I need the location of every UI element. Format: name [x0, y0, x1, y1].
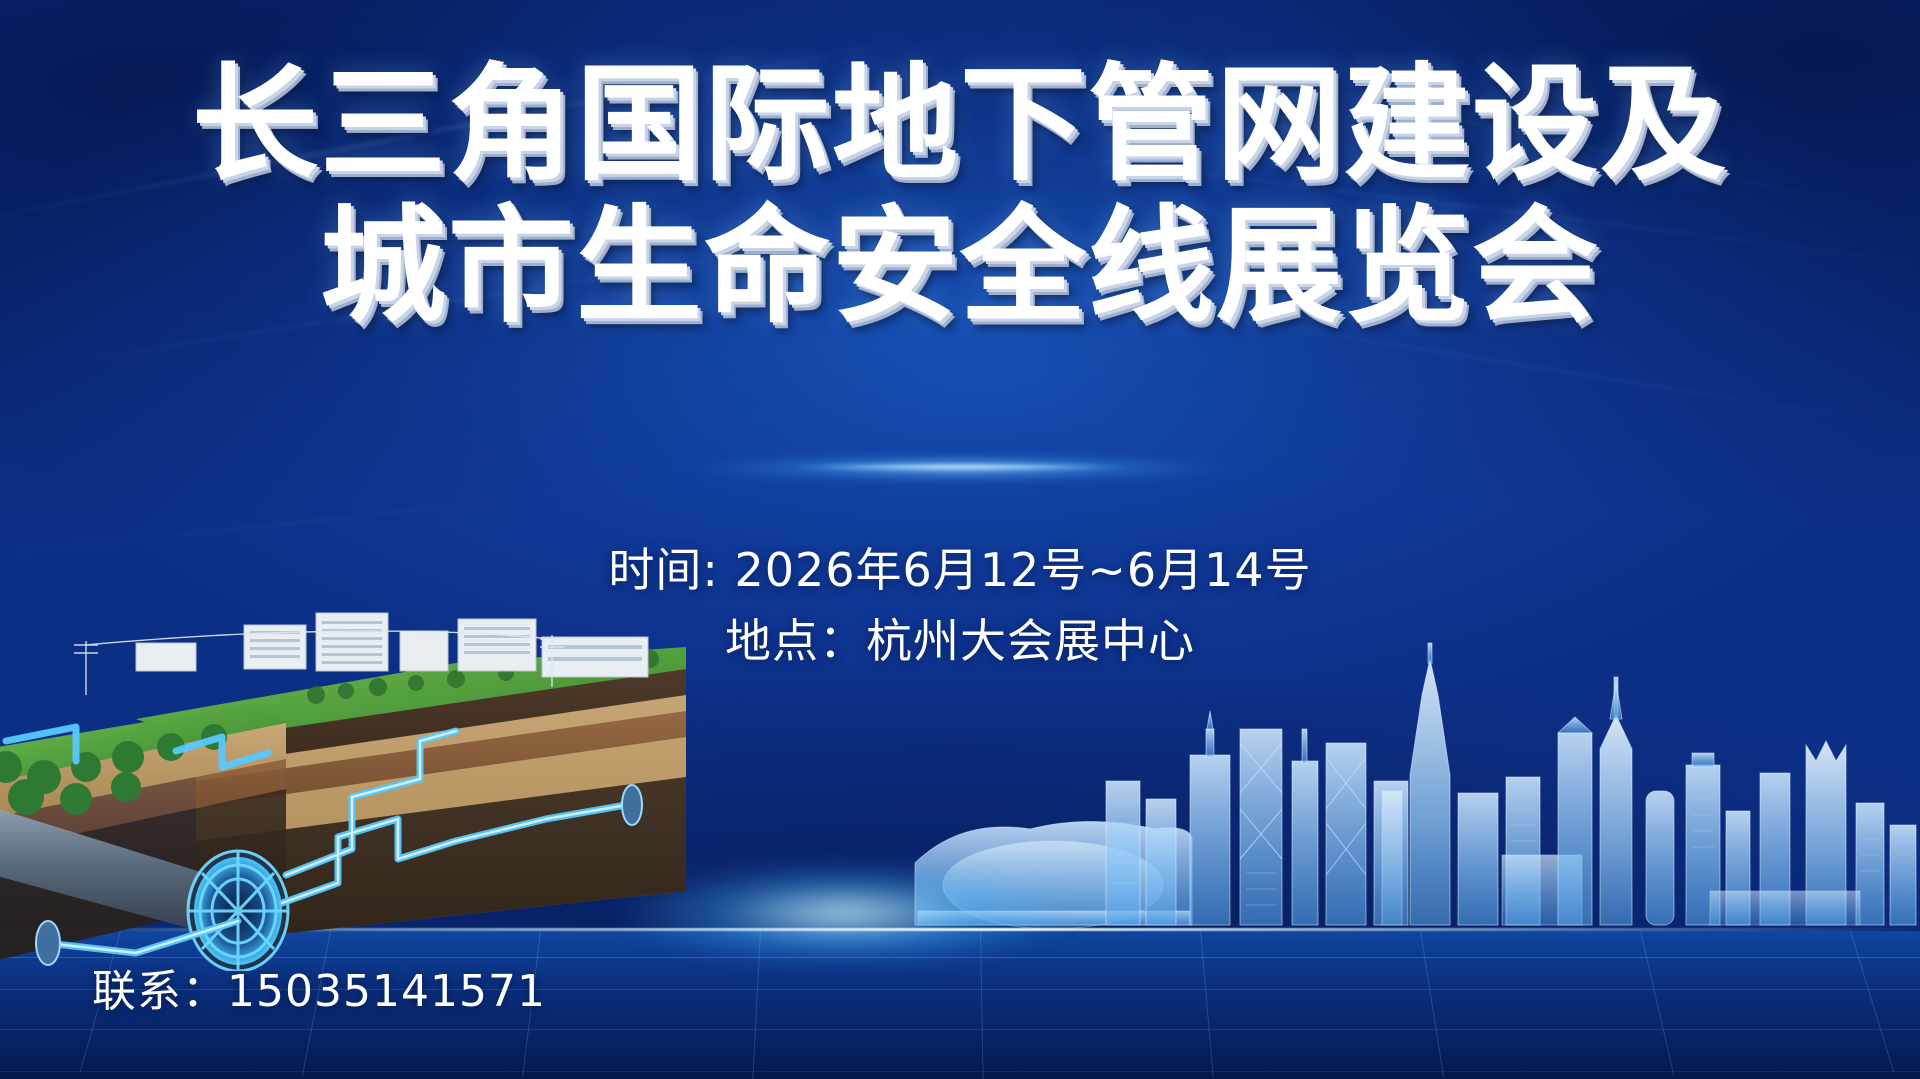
event-venue: 地点：杭州大会展中心: [0, 606, 1920, 677]
event-date: 时间: 2026年6月12号~6月14号: [0, 535, 1920, 606]
event-details: 时间: 2026年6月12号~6月14号 地点：杭州大会展中心: [0, 535, 1920, 678]
light-streak: [0, 233, 872, 379]
contact-info: 联系：15035141571: [92, 955, 546, 1019]
exhibition-poster: 长三角国际地下管网建设及 城市生命安全线展览会 时间: 2026年6月12号~6…: [0, 0, 1920, 1079]
light-streak: [1152, 54, 1920, 240]
light-streak: [0, 32, 940, 239]
title-underglow-core: [750, 463, 1170, 471]
light-streak: [998, 281, 1920, 451]
light-streak: [845, 129, 1920, 276]
